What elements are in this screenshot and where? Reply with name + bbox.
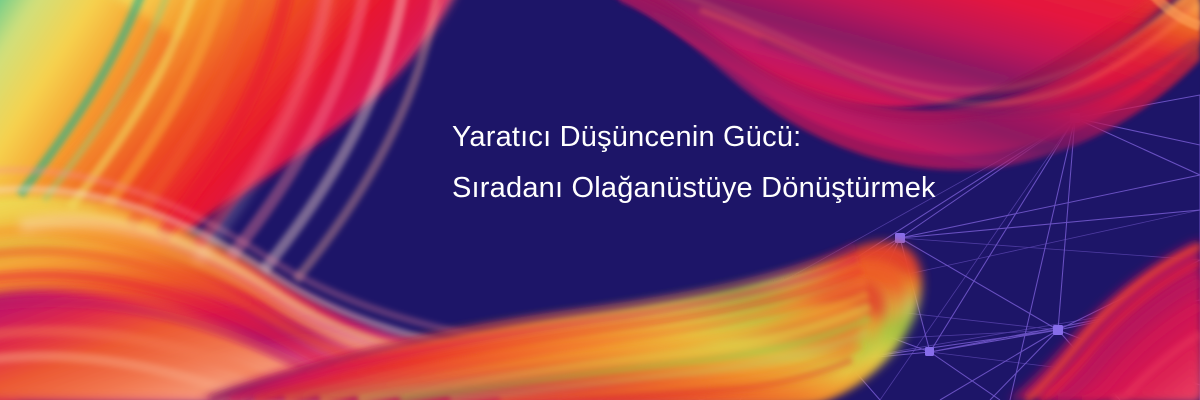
title-line-2: Sıradanı Olağanüstüye Dönüştürmek [452,163,1012,214]
page-title: Yaratıcı Düşüncenin Gücü: Sıradanı Olağa… [452,112,1012,214]
banner-hero: Yaratıcı Düşüncenin Gücü: Sıradanı Olağa… [0,0,1200,400]
title-line-1: Yaratıcı Düşüncenin Gücü: [452,112,1012,163]
